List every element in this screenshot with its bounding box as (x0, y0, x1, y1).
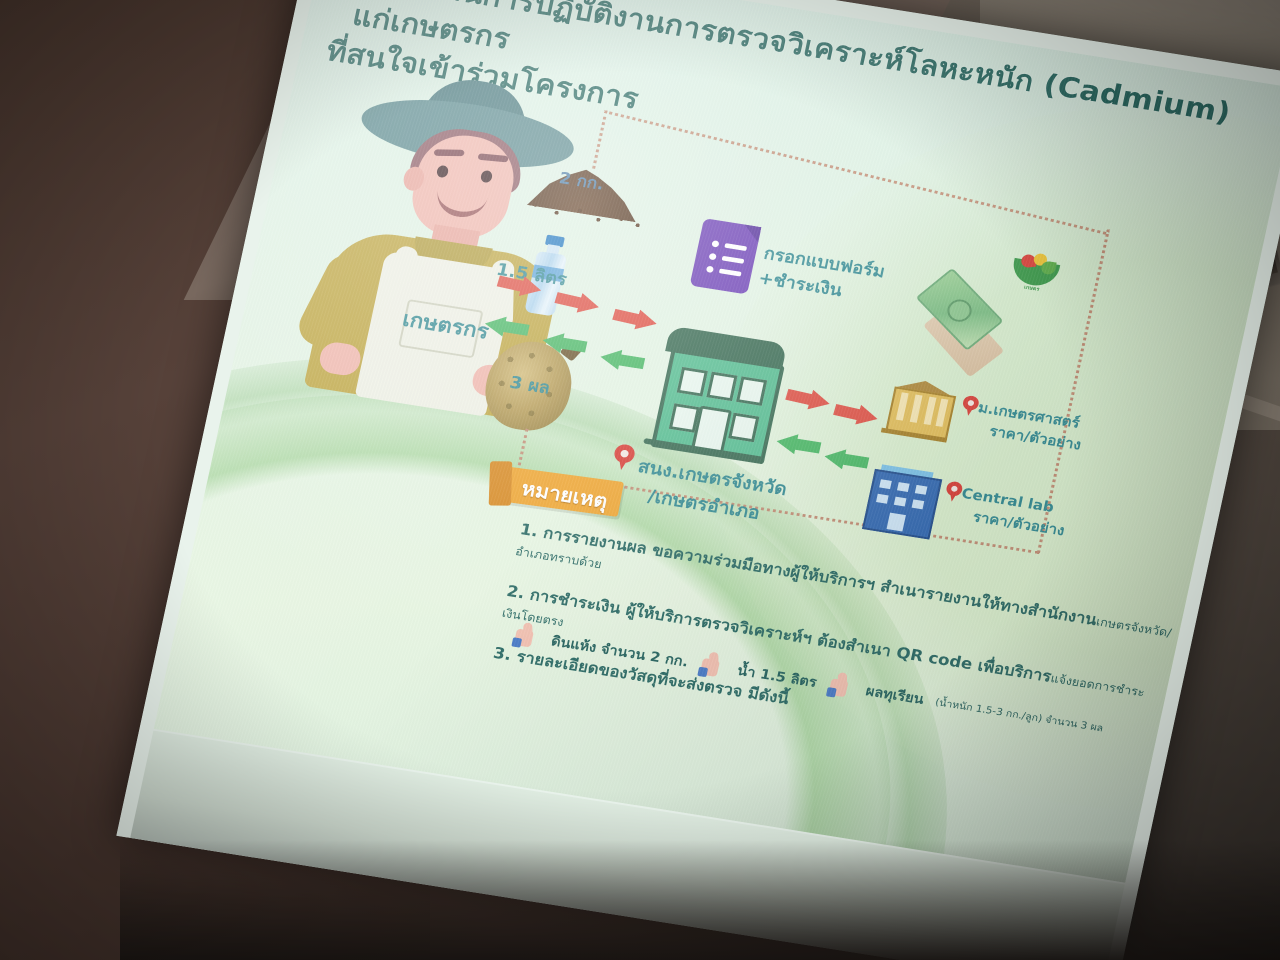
university-label: ม.เกษตรศาสตร์ ราคา/ตัวอย่าง (971, 397, 1129, 463)
dotted-path-vertical-durian (517, 429, 529, 471)
slide-surface: 3.1 แผนการปฏิบัติงานการตรวจวิเคราะห์โลหะ… (154, 0, 1280, 883)
slide-content: 3.1 แผนการปฏิบัติงานการตรวจวิเคราะห์โลหะ… (154, 0, 1280, 883)
forms-line-2 (722, 256, 745, 264)
lab-window-3 (915, 485, 928, 495)
office-window-1 (677, 367, 708, 397)
arrow-left-3 (598, 347, 646, 374)
location-pin-icon-office (611, 443, 636, 472)
central-lab-label: Central lab ราคา/ตัวอย่าง (955, 483, 1113, 549)
arrow-right-5 (832, 400, 881, 429)
agriculture-office-icon (645, 326, 787, 463)
forms-bullet-2 (709, 253, 717, 260)
arrow-left-4 (774, 431, 822, 458)
banknote-seal (942, 295, 976, 326)
projection-screen: 3.1 แผนการปฏิบัติงานการตรวจวิเคราะห์โลหะ… (116, 0, 1280, 960)
farmer-illustration: เกษตรกร (271, 77, 633, 424)
lab-window-2 (897, 482, 910, 492)
lab-window-1 (879, 479, 892, 489)
organization-logo-icon: เกษตร (1008, 245, 1063, 296)
forms-bullet-1 (711, 240, 719, 247)
arrow-right-3 (611, 304, 660, 333)
projection-screen-wrap: 3.1 แผนการปฏิบัติงานการตรวจวิเคราะห์โลหะ… (0, 0, 1280, 960)
thumbs-up-icon-1 (511, 623, 542, 651)
office-window-2 (706, 372, 737, 402)
lab-window-4 (876, 494, 889, 504)
arrow-left-5 (822, 446, 870, 473)
form-step-label: กรอกแบบฟอร์ม +ชำระเงิน (756, 241, 935, 317)
foreground-shadow (120, 840, 1280, 960)
forms-bullet-3 (706, 266, 714, 273)
google-forms-icon (690, 218, 762, 294)
central-lab-icon (858, 463, 943, 540)
farmer-eyebrow-left (434, 149, 465, 156)
forms-corner-fold (741, 225, 761, 243)
photo-scene: 3.1 แผนการปฏิบัติงานการตรวจวิเคราะห์โลหะ… (0, 0, 1280, 960)
thumbs-up-icon-2 (697, 652, 728, 680)
forms-line-1 (724, 243, 747, 251)
office-window-3 (736, 376, 767, 406)
lab-window-5 (894, 497, 907, 507)
lab-window-6 (912, 499, 925, 509)
forms-line-3 (719, 269, 742, 277)
office-window-5 (728, 413, 759, 443)
arrow-right-4 (784, 384, 833, 413)
thumbs-up-icon-3 (826, 673, 857, 701)
location-pin-icon-university (961, 395, 976, 412)
kasetsart-university-icon (881, 376, 958, 443)
